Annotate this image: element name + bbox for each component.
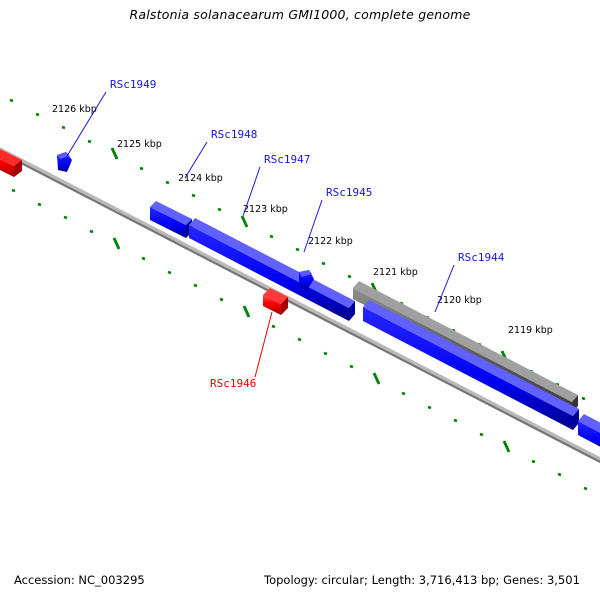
tick-label: 2121 kbp: [373, 267, 418, 278]
genome-map-viewer: Ralstonia solanacearum GMI1000, complete…: [0, 0, 600, 600]
gene-label-RSc1946[interactable]: RSc1946: [210, 377, 256, 390]
ruler-track-lower: [12, 190, 587, 489]
gene-feature-RSc1944[interactable]: [363, 300, 579, 430]
ruler-tick-labels: 2126 kbp 2125 kbp 2124 kbp 2123 kbp 2122…: [52, 104, 553, 336]
gene-label-RSc1949[interactable]: RSc1949: [110, 78, 156, 91]
genome-stats-text: Topology: circular; Length: 3,716,413 bp…: [264, 573, 580, 587]
gene-feature-RSc1949[interactable]: [57, 152, 72, 172]
gene-label-RSc1947[interactable]: RSc1947: [264, 153, 310, 166]
accession-text: Accession: NC_003295: [14, 573, 145, 587]
gene-label-RSc1948[interactable]: RSc1948: [211, 128, 257, 141]
gene-feature-blue-right-edge[interactable]: [578, 414, 600, 453]
tick-label: 2125 kbp: [117, 139, 162, 150]
genome-backbone[interactable]: [0, 146, 600, 465]
tick-label: 2122 kbp: [308, 236, 353, 247]
tick-label: 2126 kbp: [52, 104, 97, 115]
tick-label: 2120 kbp: [437, 295, 482, 306]
leader-line-RSc1946: [255, 312, 272, 377]
gene-label-RSc1945[interactable]: RSc1945: [326, 186, 372, 199]
gene-feature-RSc1946[interactable]: [263, 288, 288, 315]
leader-line-RSc1949: [64, 92, 106, 161]
tick-label: 2124 kbp: [178, 173, 223, 184]
tick-label: 2123 kbp: [243, 204, 288, 215]
gene-label-RSc1944[interactable]: RSc1944: [458, 251, 505, 264]
tick-label: 2119 kbp: [508, 325, 553, 336]
genome-map-canvas[interactable]: 2126 kbp 2125 kbp 2124 kbp 2123 kbp 2122…: [0, 0, 600, 600]
